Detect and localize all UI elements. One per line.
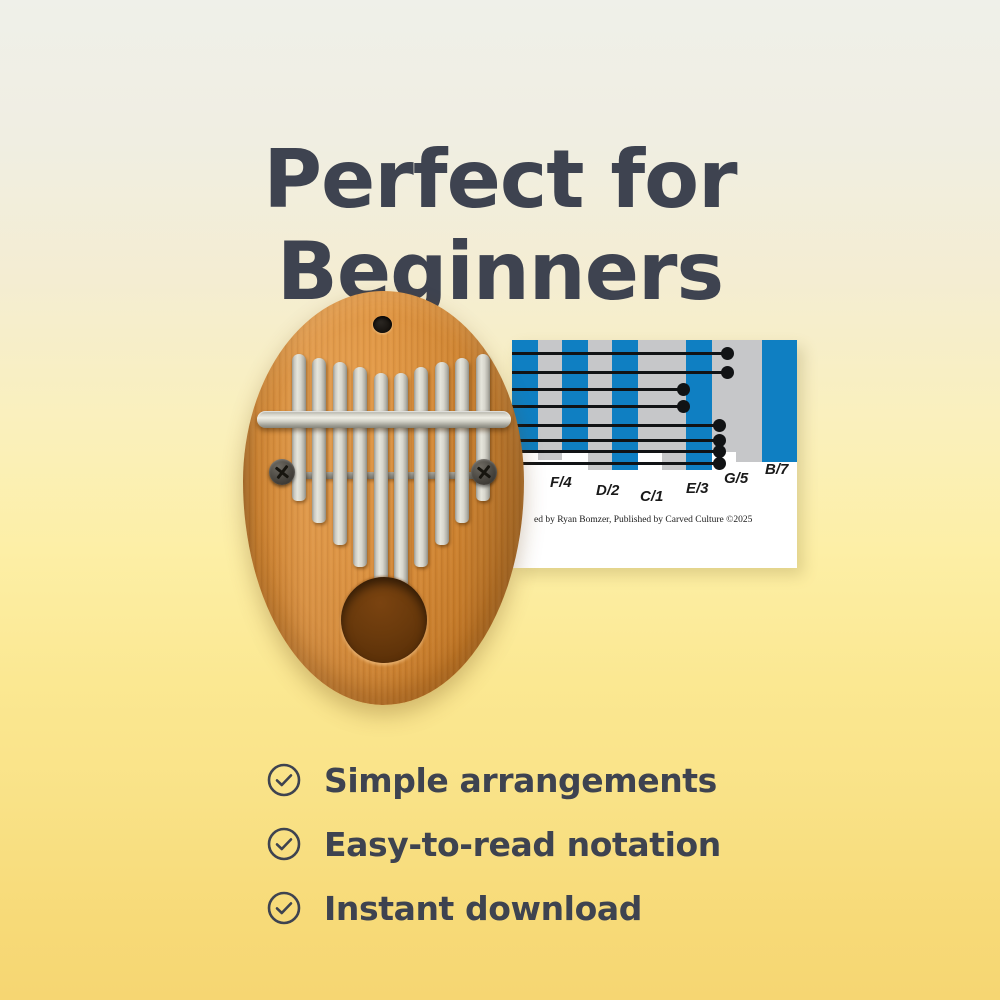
- tablature-note-dot: [677, 383, 690, 396]
- tablature-note-line: [512, 371, 724, 374]
- feature-label: Simple arrangements: [324, 761, 717, 800]
- tablature-note-line: [512, 450, 716, 453]
- kalimba-tine: [353, 367, 367, 567]
- promo-graphic: Perfect for Beginners F/4D/2C/1E/3G/5B/7…: [0, 0, 1000, 1000]
- kalimba-tine: [414, 367, 428, 567]
- feature-label: Instant download: [324, 889, 642, 928]
- feature-item: Instant download: [266, 876, 826, 940]
- kalimba-screw-left: [269, 459, 295, 485]
- tablature-note-label: F/4: [550, 474, 572, 491]
- tablature-note-dot: [721, 347, 734, 360]
- page-title: Perfect for Beginners: [0, 134, 1000, 318]
- tablature-credit: ed by Ryan Bomzer, Published by Carved C…: [534, 515, 752, 525]
- tablature-note-label: E/3: [686, 480, 709, 497]
- tablature-note-label: D/2: [596, 482, 619, 499]
- feature-label: Easy-to-read notation: [324, 825, 721, 864]
- tablature-note-dot: [721, 366, 734, 379]
- feature-item: Easy-to-read notation: [266, 812, 826, 876]
- feature-item: Simple arrangements: [266, 748, 826, 812]
- tablature-note-line: [512, 424, 716, 427]
- tablature-note-line: [512, 352, 724, 355]
- kalimba-sound-hole: [341, 577, 427, 663]
- kalimba-screw-right: [471, 459, 497, 485]
- tablature-note-dot: [713, 419, 726, 432]
- kalimba-tine: [374, 373, 388, 589]
- kalimba-tine: [435, 362, 449, 545]
- check-circle-icon: [266, 890, 302, 926]
- check-circle-icon: [266, 762, 302, 798]
- tablature-note-dot: [677, 400, 690, 413]
- tablature-note-line: [512, 405, 680, 408]
- kalimba-tine: [394, 373, 408, 589]
- tablature-note-line: [512, 462, 716, 465]
- kalimba-tine: [333, 362, 347, 545]
- tablature-note-labels: F/4D/2C/1E/3G/5B/7: [512, 466, 797, 496]
- tablature-note-label: B/7: [765, 461, 788, 478]
- tablature-card: F/4D/2C/1E/3G/5B/7 ed by Ryan Bomzer, Pu…: [512, 340, 797, 568]
- kalimba-bridge-bar: [257, 411, 511, 428]
- kalimba-tine: [455, 358, 469, 523]
- tablature-note-lines: [512, 340, 797, 470]
- tablature-note-line: [512, 439, 716, 442]
- tablature-note-label: G/5: [724, 470, 748, 487]
- feature-list: Simple arrangementsEasy-to-read notation…: [266, 748, 826, 940]
- kalimba-instrument: [243, 291, 524, 705]
- check-circle-icon: [266, 826, 302, 862]
- headline-line-1: Perfect for: [0, 134, 1000, 226]
- tablature-note-label: C/1: [640, 488, 663, 505]
- kalimba-top-hole: [373, 316, 392, 333]
- kalimba-tine: [312, 358, 326, 523]
- tablature-note-line: [512, 388, 680, 391]
